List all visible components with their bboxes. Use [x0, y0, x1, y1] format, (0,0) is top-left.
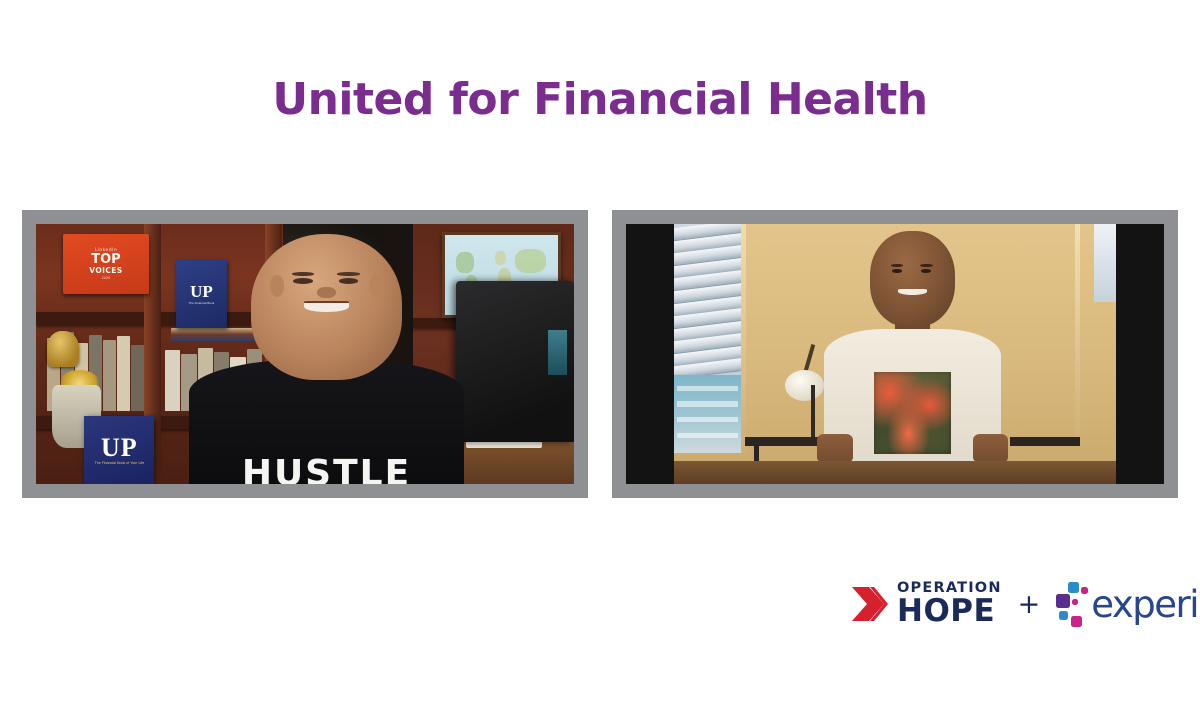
wall-edge: [1075, 224, 1080, 442]
pillarbox-bar-left: [626, 224, 674, 484]
red-arrow-icon: [852, 581, 888, 627]
pillarbox-bar-right: [1116, 224, 1164, 484]
computer-monitor: [456, 281, 574, 442]
participant-right-person: [824, 224, 1000, 463]
award-line-1: LinkedIn: [95, 248, 117, 253]
experian-wordmark-text: experian: [1091, 583, 1200, 626]
trophy-ornament: [47, 331, 79, 367]
award-line-2: TOP: [91, 253, 120, 266]
video-tile-right[interactable]: [612, 210, 1178, 498]
top-voices-award: LinkedIn TOP VOICES 2020: [63, 234, 149, 294]
award-line-3: VOICES: [89, 266, 122, 275]
video-feed-left[interactable]: LinkedIn TOP VOICES 2020: [36, 224, 574, 484]
window-view: [674, 375, 740, 453]
video-tile-left[interactable]: LinkedIn TOP VOICES 2020: [22, 210, 588, 498]
tshirt-camo-graphic: [874, 372, 952, 453]
table-lamp: [785, 370, 825, 401]
sponsor-logo-bar: OPERATION HOPE + experian ™: [852, 580, 1200, 628]
wall-edge: [741, 224, 746, 453]
video-scene-right: [626, 224, 1164, 484]
window-with-blinds: [674, 224, 740, 453]
plus-separator: +: [1018, 589, 1041, 620]
book-subtitle: The Financial Book of Your Life: [95, 461, 145, 466]
page-title: United for Financial Health: [0, 74, 1200, 125]
video-scene-left: LinkedIn TOP VOICES 2020: [36, 224, 574, 484]
experian-logo: experian ™: [1056, 580, 1200, 628]
book-title: UP: [101, 437, 138, 459]
operation-hope-line2: HOPE: [897, 596, 1002, 627]
video-feed-right[interactable]: [626, 224, 1164, 484]
lamp-stem: [811, 385, 815, 442]
experian-wordmark: experian ™: [1091, 583, 1200, 626]
side-table-right: [1010, 437, 1081, 446]
window-sliver-right: [1094, 224, 1116, 302]
book-up-foreground: UP The Financial Book of Your Life: [84, 416, 154, 484]
desk-surface: [674, 461, 1115, 484]
room-background: [674, 224, 1115, 484]
participant-left-person: HUSTLE: [208, 224, 445, 484]
participant-right-head: [870, 231, 955, 327]
experian-squares-icon: [1056, 580, 1086, 628]
award-line-4: 2020: [102, 276, 111, 280]
operation-hope-logo: OPERATION HOPE: [852, 581, 1002, 628]
participant-left-head: [251, 234, 403, 380]
tshirt-text-hustle: HUSTLE: [217, 456, 437, 484]
